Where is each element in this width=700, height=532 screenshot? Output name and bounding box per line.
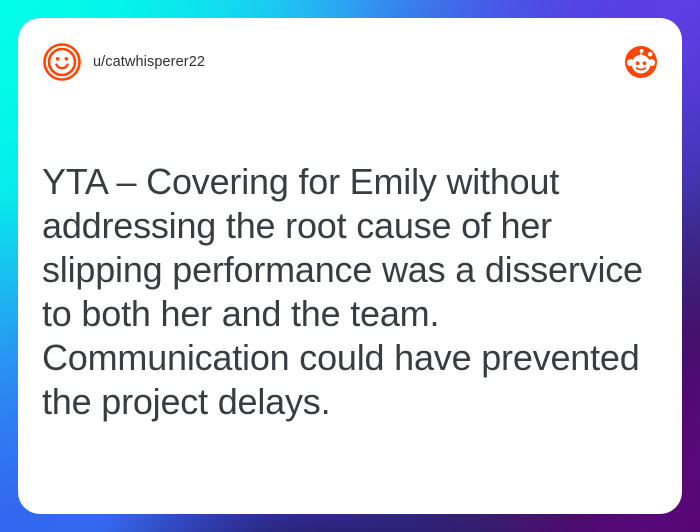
post-text: YTA – Covering for Emily without address… [42,160,658,423]
reddit-post-card: u/catwhisperer22 YTA – Covering for Emil… [18,18,682,514]
username-label: u/catwhisperer22 [93,54,205,70]
card-header: u/catwhisperer22 [42,40,658,84]
user-identity-block[interactable]: u/catwhisperer22 [42,42,205,82]
reddit-snoo-logo-icon[interactable] [624,45,658,79]
card-body: YTA – Covering for Emily without address… [42,84,658,490]
smiley-face-avatar-icon [42,42,82,82]
